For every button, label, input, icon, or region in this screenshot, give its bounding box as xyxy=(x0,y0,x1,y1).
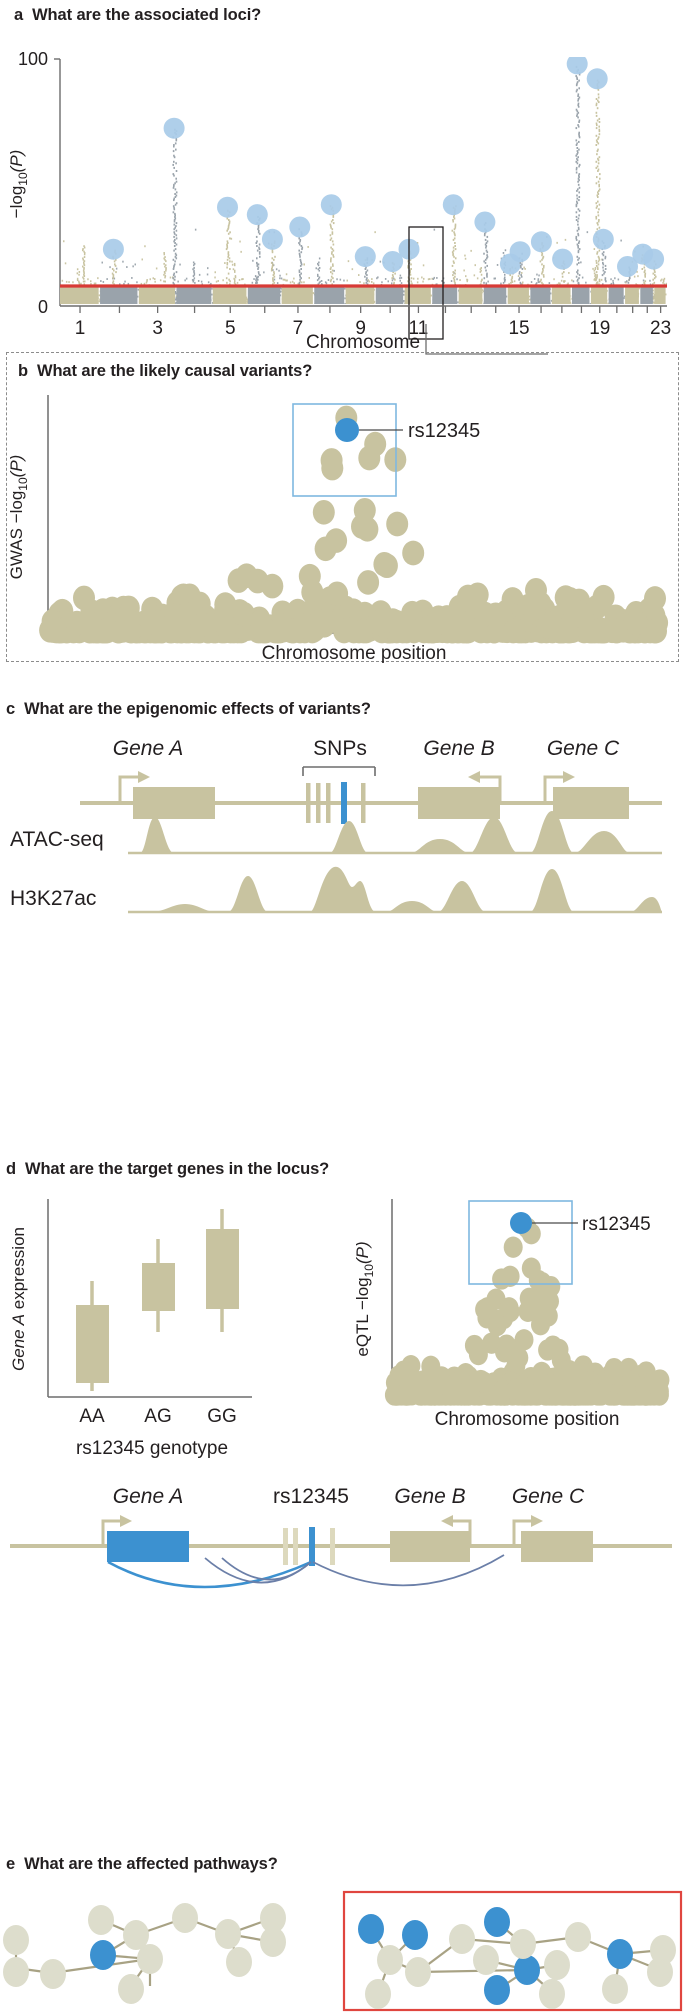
panel-b-header: b What are the likely causal variants? xyxy=(0,362,685,381)
variant-point xyxy=(333,619,355,644)
panel-d-header: d What are the target genes in the locus… xyxy=(0,1160,685,1179)
variant-point xyxy=(618,1384,637,1405)
locus-snp-tick xyxy=(330,1528,335,1565)
pathway-node[interactable] xyxy=(3,1957,29,1987)
pathway-node-highlighted[interactable] xyxy=(358,1914,384,1944)
variant-point xyxy=(357,570,379,595)
panel-c-letter: c xyxy=(6,700,15,719)
panel-d-letter: d xyxy=(6,1160,16,1179)
variant-point xyxy=(261,574,283,599)
variant-point xyxy=(141,609,163,634)
panel-e: e What are the affected pathways? xyxy=(0,1855,685,2012)
lead-snp-highlight[interactable] xyxy=(103,239,124,260)
lead-snp-highlight[interactable] xyxy=(510,241,531,262)
snp-tick xyxy=(326,783,331,823)
panel-d-body: Gene A expression AA AG GG rs12345 genot… xyxy=(0,1187,685,1627)
locus-gene-c-body xyxy=(521,1531,593,1562)
lead-snp-highlight[interactable] xyxy=(321,194,342,215)
variant-point xyxy=(509,1347,528,1368)
h3k27ac-label: H3K27ac xyxy=(10,887,96,910)
lead-snp-highlight[interactable] xyxy=(355,246,376,267)
variant-point xyxy=(522,1258,541,1279)
panel-e-title: What are the affected pathways? xyxy=(24,1855,278,1874)
locus-gene-a-body[interactable] xyxy=(107,1531,189,1562)
panel-b-letter: b xyxy=(18,362,28,381)
boxplot-category-aa: AA xyxy=(79,1406,105,1427)
panel-c-epigenome-tracks: Gene A SNPs Gene B Gene C ATAC-seq H3K27… xyxy=(0,729,685,949)
pathway-network-left xyxy=(3,1903,286,2004)
variant-point xyxy=(492,1268,511,1289)
lead-snp-highlight[interactable] xyxy=(531,231,552,252)
variant-point xyxy=(504,1237,523,1258)
variant-point xyxy=(396,1383,415,1404)
pathway-node[interactable] xyxy=(449,1924,475,1954)
locus-gene-b-body xyxy=(390,1531,470,1562)
boxplot-ylabel-gene: Gene A xyxy=(9,1314,28,1371)
pathway-node-highlighted[interactable] xyxy=(607,1939,633,1969)
pathway-network-right xyxy=(344,1892,681,2010)
variant-point xyxy=(446,611,468,636)
variant-point xyxy=(66,611,88,636)
variant-point xyxy=(504,618,526,643)
pathway-node[interactable] xyxy=(40,1959,66,1989)
lead-snp-highlight[interactable] xyxy=(474,212,495,233)
eqtl-boxplot: Gene A expression AA AG GG rs12345 genot… xyxy=(9,1199,252,1459)
lead-snp-highlight[interactable] xyxy=(552,249,573,270)
panel-d-locus-track: Gene A rs12345 Gene B Gene C xyxy=(10,1485,672,1587)
pathway-node[interactable] xyxy=(405,1957,431,1987)
panel-b-y-axis-label: GWAS −log10(P) xyxy=(7,455,30,580)
pathway-node[interactable] xyxy=(226,1947,252,1977)
variant-point xyxy=(587,619,609,644)
snps-label: SNPs xyxy=(313,737,367,760)
variant-point xyxy=(358,446,380,471)
boxplot-x-axis-label: rs12345 genotype xyxy=(76,1438,228,1459)
panel-a-title: What are the associated loci? xyxy=(32,6,261,25)
pathway-node[interactable] xyxy=(565,1922,591,1952)
manhattan-plot: 100 0 −log10(P) 1357911151923 Chromosome xyxy=(0,29,685,349)
panel-c-title: What are the epigenomic effects of varia… xyxy=(24,700,371,719)
panel-b-title: What are the likely causal variants? xyxy=(37,362,312,381)
locus-lead-snp-tick[interactable] xyxy=(309,1527,315,1566)
variant-point xyxy=(326,581,348,606)
svg-text:eQTL −log10(P): eQTL −log10(P) xyxy=(353,1241,376,1356)
locus-gene-b-label: Gene B xyxy=(394,1485,465,1508)
svg-text:−log10(P): −log10(P) xyxy=(7,150,30,219)
gene-a-label: Gene A xyxy=(113,737,183,760)
variant-point xyxy=(626,610,648,635)
eqtl-ylabel-sub: 10 xyxy=(362,1264,376,1278)
panel-a-y-axis-label: −log10(P) xyxy=(7,150,30,219)
variant-point xyxy=(41,616,63,641)
variant-point xyxy=(475,1299,494,1320)
variant-point xyxy=(586,1383,605,1404)
pathway-node[interactable] xyxy=(647,1957,673,1987)
pathway-node-highlighted[interactable] xyxy=(402,1920,428,1950)
pathway-node[interactable] xyxy=(260,1927,286,1957)
eqtl-y-axis-label: eQTL −log10(P) xyxy=(353,1241,376,1356)
variant-point xyxy=(536,614,558,639)
variant-point xyxy=(309,609,331,634)
boxplot-box xyxy=(142,1263,175,1311)
panel-b-ylabel-prefix: GWAS −log xyxy=(7,491,26,580)
panel-c: c What are the epigenomic effects of var… xyxy=(0,700,685,949)
snp-tick xyxy=(361,783,366,823)
variant-point xyxy=(411,618,433,643)
panel-a: a What are the associated loci? 100 0 −l… xyxy=(0,6,685,349)
panel-b-x-axis-label: Chromosome position xyxy=(262,643,447,664)
variant-point xyxy=(423,1384,442,1405)
chromatin-arc-highlighted[interactable] xyxy=(108,1562,311,1587)
locus-snp-tick xyxy=(293,1528,298,1565)
lead-snp-tick[interactable] xyxy=(341,782,347,824)
pathway-node[interactable] xyxy=(365,1979,391,2009)
panel-d: d What are the target genes in the locus… xyxy=(0,1160,685,1627)
lead-variant-marker[interactable] xyxy=(335,418,359,442)
snps-bracket xyxy=(303,767,375,776)
boxplot-box xyxy=(76,1305,109,1383)
lead-snp-highlight[interactable] xyxy=(567,53,588,74)
lead-snp-highlight[interactable] xyxy=(217,197,238,218)
lead-snp-highlight[interactable] xyxy=(247,204,268,225)
panel-a-letter: a xyxy=(14,6,23,25)
lead-snp-highlight[interactable] xyxy=(164,118,185,139)
pathway-node-highlighted[interactable] xyxy=(514,1955,540,1985)
gene-b-label: Gene B xyxy=(423,737,494,760)
lead-snp-highlight[interactable] xyxy=(643,249,664,270)
eqtl-lead-variant-label: rs12345 xyxy=(582,1214,651,1235)
variant-point xyxy=(386,512,408,537)
eqtl-points xyxy=(385,1217,670,1405)
eqtl-lead-variant-marker[interactable] xyxy=(510,1212,532,1234)
pathway-node[interactable] xyxy=(539,1979,565,2009)
variant-point xyxy=(321,456,343,481)
panel-b-ylabel-suffix: (P) xyxy=(7,455,26,478)
variant-point xyxy=(170,619,192,644)
pathway-node[interactable] xyxy=(3,1925,29,1955)
variant-point xyxy=(564,604,586,629)
panel-a-header: a What are the associated loci? xyxy=(0,6,685,25)
pathway-node[interactable] xyxy=(377,1945,403,1975)
gene-c-label: Gene C xyxy=(547,737,620,760)
atac-seq-label: ATAC-seq xyxy=(10,828,104,851)
y-tick-0: 0 xyxy=(38,297,48,317)
variant-point xyxy=(267,619,289,644)
locus-gene-a-label: Gene A xyxy=(113,1485,183,1508)
manhattan-points xyxy=(60,53,668,307)
variant-point xyxy=(514,1383,533,1404)
svg-text:GWAS −log10(P): GWAS −log10(P) xyxy=(7,455,30,580)
locus-gene-c-label: Gene C xyxy=(512,1485,585,1508)
locus-snp-tick xyxy=(283,1528,288,1565)
lead-snp-highlight[interactable] xyxy=(289,217,310,238)
variant-point xyxy=(402,541,424,566)
variant-point xyxy=(500,1297,519,1318)
eqtl-locuszoom: eQTL −log10(P) rs12345 Chromosome positi… xyxy=(353,1199,669,1430)
variant-point xyxy=(315,536,337,561)
panel-c-header: c What are the epigenomic effects of var… xyxy=(0,700,685,719)
lead-snp-highlight[interactable] xyxy=(593,229,614,250)
y-label-suffix: (P) xyxy=(7,150,26,173)
locus-rs12345-label: rs12345 xyxy=(273,1485,349,1508)
svg-text:Gene A expression: Gene A expression xyxy=(9,1227,28,1371)
pathway-node[interactable] xyxy=(602,1974,628,2004)
variant-point xyxy=(313,500,335,525)
variant-point xyxy=(515,1329,534,1350)
panel-e-networks xyxy=(0,1882,685,2012)
gene-a-body xyxy=(133,787,215,819)
fine-mapping-locuszoom: GWAS −log10(P) rs12345 Chromosome positi… xyxy=(0,387,685,662)
locuszoom-points xyxy=(39,406,668,644)
pathway-node[interactable] xyxy=(118,1974,144,2004)
boxplot-category-ag: AG xyxy=(144,1406,171,1427)
boxplot-ylabel-rest: expression xyxy=(9,1227,28,1314)
panel-e-letter: e xyxy=(6,1855,15,1874)
pathway-node[interactable] xyxy=(123,1920,149,1950)
pathway-node[interactable] xyxy=(510,1929,536,1959)
y-label-prefix: −log xyxy=(7,186,26,219)
snp-tick xyxy=(316,783,321,823)
variant-point xyxy=(518,1301,537,1322)
h3k27ac-signal xyxy=(128,867,662,912)
y-label-sub: 10 xyxy=(16,172,30,186)
variant-point xyxy=(485,602,507,627)
lead-variant-label: rs12345 xyxy=(408,420,480,442)
variant-point xyxy=(73,586,95,611)
panel-b: b What are the likely causal variants? G… xyxy=(0,362,685,662)
boxplot-box xyxy=(206,1229,239,1309)
variant-point xyxy=(301,580,323,605)
pathway-node[interactable] xyxy=(88,1905,114,1935)
pathway-node[interactable] xyxy=(172,1903,198,1933)
boxplot-y-axis-label: Gene A expression xyxy=(9,1227,28,1371)
panel-e-header: e What are the affected pathways? xyxy=(0,1855,685,1874)
panel-d-title: What are the target genes in the locus? xyxy=(25,1160,329,1179)
y-tick-100: 100 xyxy=(18,49,48,69)
variant-point xyxy=(95,619,117,644)
variant-point xyxy=(228,568,250,593)
gene-b-body xyxy=(418,787,500,819)
eqtl-x-axis-label: Chromosome position xyxy=(435,1409,620,1430)
gene-c-body xyxy=(553,787,629,819)
boxplot-category-gg: GG xyxy=(207,1406,237,1427)
lead-snp-highlight[interactable] xyxy=(443,194,464,215)
variant-point xyxy=(373,552,395,577)
variant-point xyxy=(120,619,142,644)
variant-point xyxy=(382,608,404,633)
pathway-node-highlighted[interactable] xyxy=(484,1975,510,2005)
eqtl-ylabel-suffix: (P) xyxy=(353,1241,372,1264)
pathway-node-highlighted[interactable] xyxy=(90,1940,116,1970)
pathway-node[interactable] xyxy=(473,1945,499,1975)
pathway-node[interactable] xyxy=(544,1950,570,1980)
variant-point xyxy=(474,1372,493,1393)
lead-snp-highlight[interactable] xyxy=(262,229,283,250)
pathway-node[interactable] xyxy=(215,1919,241,1949)
panel-b-ylabel-sub: 10 xyxy=(16,477,30,491)
snp-tick xyxy=(306,783,311,823)
lead-snp-highlight[interactable] xyxy=(587,68,608,89)
eqtl-ylabel-prefix: eQTL −log xyxy=(353,1277,372,1356)
pathway-node-highlighted[interactable] xyxy=(484,1907,510,1937)
variant-point xyxy=(465,1335,484,1356)
variant-point xyxy=(356,517,378,542)
variant-point xyxy=(192,612,214,637)
variant-point xyxy=(550,1339,569,1360)
